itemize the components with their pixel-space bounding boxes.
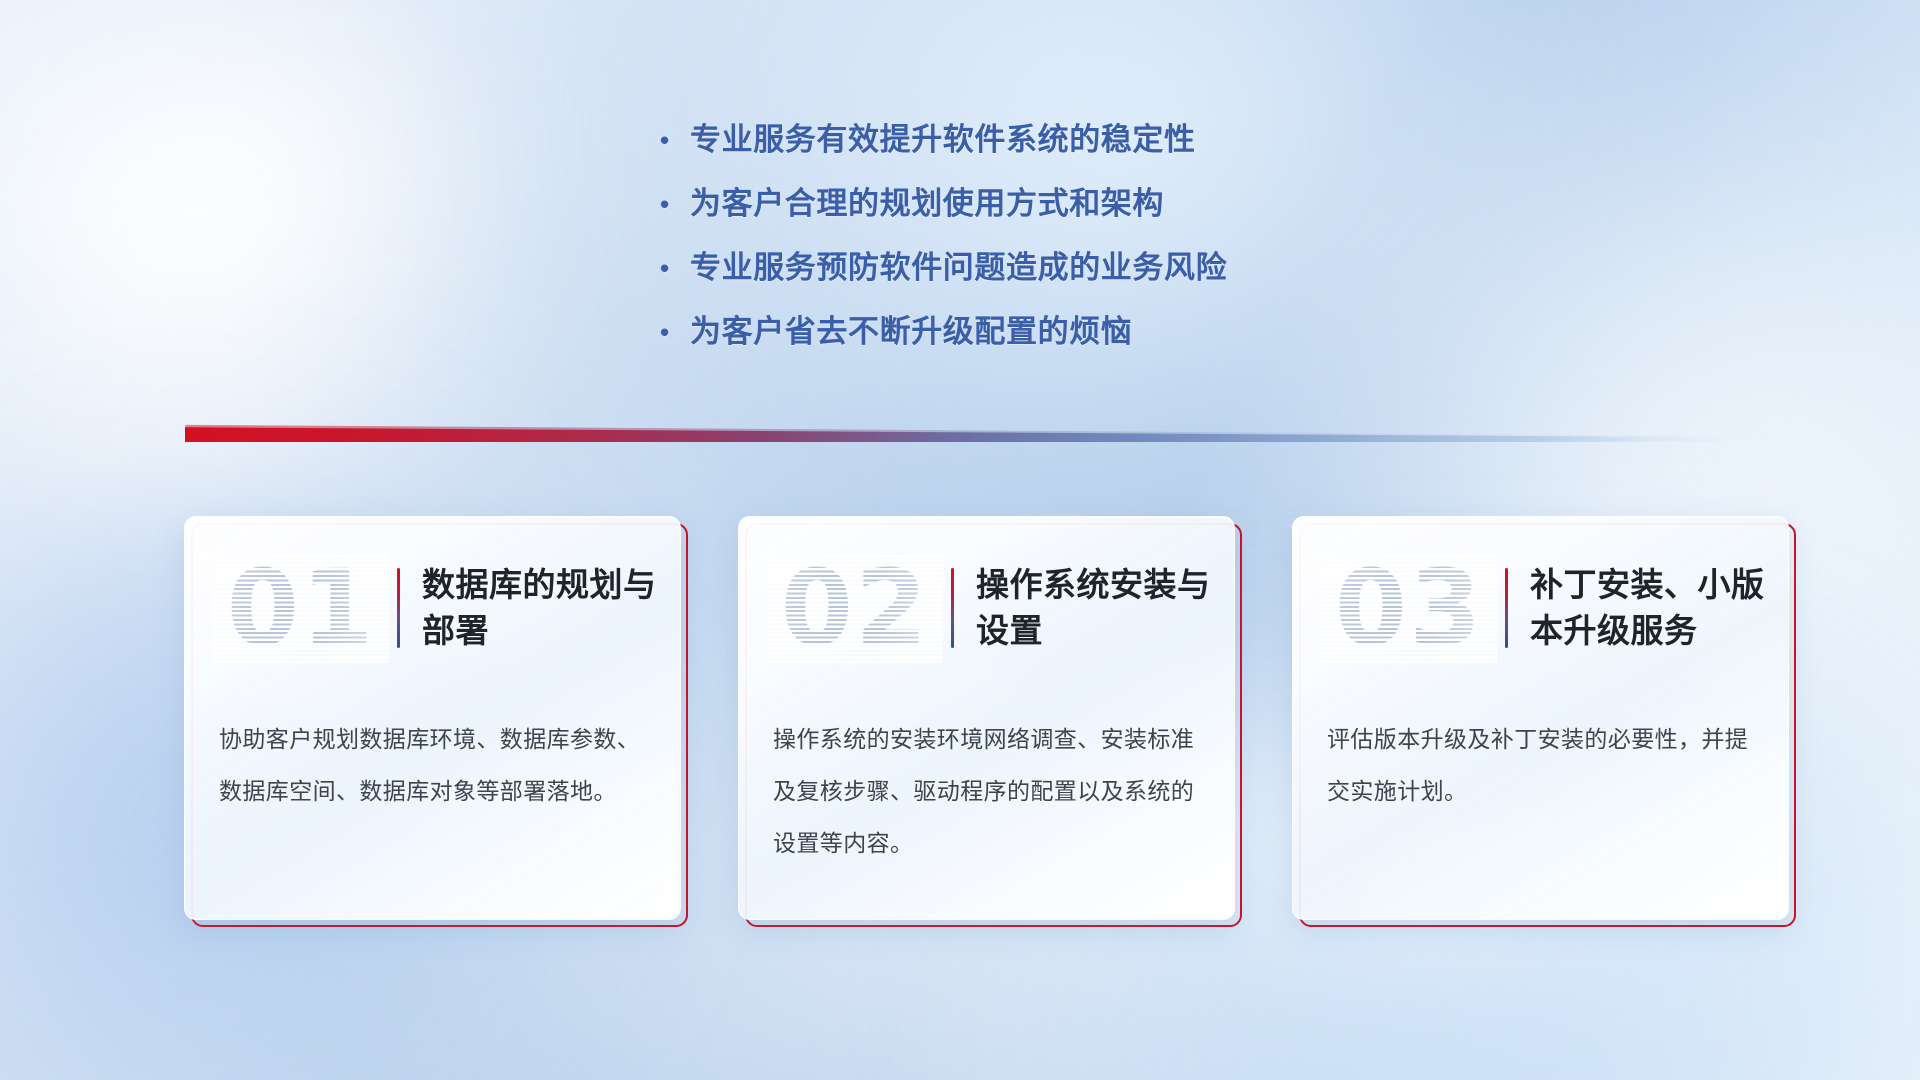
card-title: 数据库的规划与部署 <box>422 562 680 654</box>
service-card-list: 01 数据库的规划与部署 协助客户规划数据库环境、数据库参数、数据库空间、数据库… <box>184 516 1789 920</box>
service-card-03[interactable]: 03 补丁安装、小版本升级服务 评估版本升级及补丁安装的必要性，并提交实施计划。 <box>1292 516 1789 920</box>
slide-stage: • 专业服务有效提升软件系统的稳定性 • 为客户合理的规划使用方式和架构 • 专… <box>0 0 1920 1080</box>
bullet-dot-icon: • <box>660 300 690 364</box>
card-header: 02 操作系统安装与设置 <box>739 543 1234 673</box>
card-header: 01 数据库的规划与部署 <box>185 543 680 673</box>
card-number-text: 01 <box>227 553 376 663</box>
bullet-text: 专业服务有效提升软件系统的稳定性 <box>690 108 1440 172</box>
benefits-bullet-list: • 专业服务有效提升软件系统的稳定性 • 为客户合理的规划使用方式和架构 • 专… <box>660 108 1440 364</box>
card-number-badge: 01 <box>213 553 389 663</box>
card-description: 协助客户规划数据库环境、数据库参数、数据库空间、数据库对象等部署落地。 <box>219 713 650 817</box>
bullet-text: 为客户合理的规划使用方式和架构 <box>690 172 1440 236</box>
list-item: • 为客户合理的规划使用方式和架构 <box>660 172 1440 236</box>
card-surface: 03 补丁安装、小版本升级服务 评估版本升级及补丁安装的必要性，并提交实施计划。 <box>1292 516 1789 920</box>
card-number-text: 02 <box>781 553 930 663</box>
card-description: 评估版本升级及补丁安装的必要性，并提交实施计划。 <box>1327 713 1758 817</box>
divider-wedge-glow <box>185 424 1730 442</box>
bullet-dot-icon: • <box>660 108 690 172</box>
card-description: 操作系统的安装环境网络调查、安装标准及复核步骤、驱动程序的配置以及系统的设置等内… <box>773 713 1204 869</box>
card-title-divider <box>951 568 954 648</box>
card-title-divider <box>1505 568 1508 648</box>
service-card-02[interactable]: 02 操作系统安装与设置 操作系统的安装环境网络调查、安装标准及复核步骤、驱动程… <box>738 516 1235 920</box>
card-title: 操作系统安装与设置 <box>976 562 1234 654</box>
list-item: • 为客户省去不断升级配置的烦恼 <box>660 300 1440 364</box>
bullet-text: 专业服务预防软件问题造成的业务风险 <box>690 236 1440 300</box>
bullet-dot-icon: • <box>660 236 690 300</box>
card-number-badge: 03 <box>1321 553 1497 663</box>
bullet-dot-icon: • <box>660 172 690 236</box>
card-number-badge: 02 <box>767 553 943 663</box>
list-item: • 专业服务有效提升软件系统的稳定性 <box>660 108 1440 172</box>
service-card-01[interactable]: 01 数据库的规划与部署 协助客户规划数据库环境、数据库参数、数据库空间、数据库… <box>184 516 681 920</box>
bullet-text: 为客户省去不断升级配置的烦恼 <box>690 300 1440 364</box>
list-item: • 专业服务预防软件问题造成的业务风险 <box>660 236 1440 300</box>
section-divider <box>185 424 1730 442</box>
card-title-divider <box>397 568 400 648</box>
card-surface: 02 操作系统安装与设置 操作系统的安装环境网络调查、安装标准及复核步骤、驱动程… <box>738 516 1235 920</box>
card-title: 补丁安装、小版本升级服务 <box>1530 562 1788 654</box>
card-surface: 01 数据库的规划与部署 协助客户规划数据库环境、数据库参数、数据库空间、数据库… <box>184 516 681 920</box>
card-number-text: 03 <box>1335 553 1484 663</box>
card-header: 03 补丁安装、小版本升级服务 <box>1293 543 1788 673</box>
